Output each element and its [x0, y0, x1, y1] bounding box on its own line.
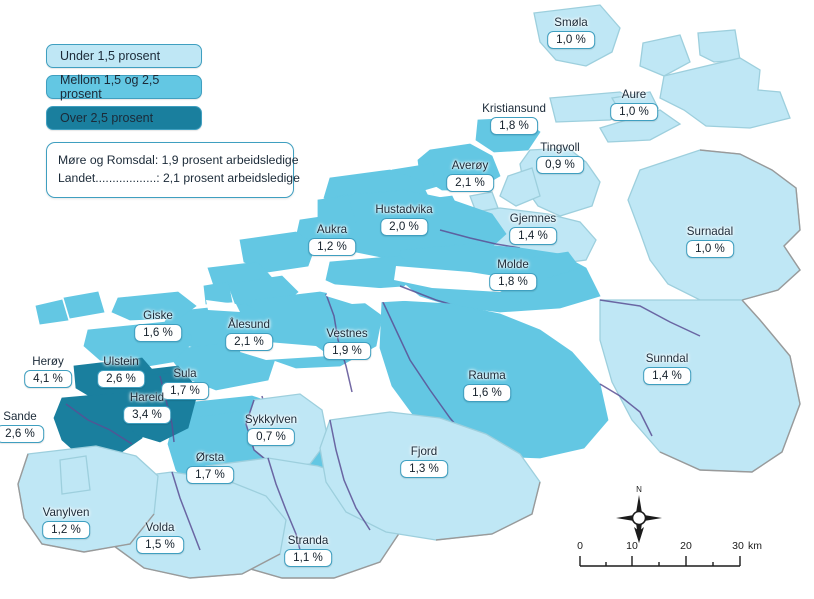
- municipality-value-badge: 1,8 %: [489, 273, 537, 291]
- scale-tick-30: 30: [732, 540, 744, 552]
- municipality-label-rauma: Rauma1,6 %: [463, 370, 511, 402]
- municipality-name: Ulstein: [97, 356, 145, 368]
- municipality-label-kristiansund: Kristiansund1,8 %: [482, 103, 546, 135]
- municipality-value-badge: 1,8 %: [490, 117, 538, 135]
- municipality-value-badge: 1,1 %: [284, 549, 332, 567]
- municipality-name: Fjord: [400, 446, 448, 458]
- municipality-label-aukra: Aukra1,2 %: [308, 224, 356, 256]
- municipality-name: Kristiansund: [482, 103, 546, 115]
- municipality-value-badge: 1,0 %: [686, 240, 734, 258]
- map-container: .lowf { fill: #bfe7f5; stroke: #9dcfdd; …: [0, 0, 814, 599]
- municipality-value-badge: 1,7 %: [186, 466, 234, 484]
- municipality-label-vestnes: Vestnes1,9 %: [323, 328, 371, 360]
- municipality-name: Ørsta: [186, 452, 234, 464]
- municipality-value-badge: 4,1 %: [24, 370, 72, 388]
- legend-class-high: Over 2,5 prosent: [46, 106, 202, 130]
- scale-bar-tick-labels: 0 10 20 30 km: [576, 540, 756, 554]
- municipality-name: Surnadal: [686, 226, 734, 238]
- legend-class-low: Under 1,5 prosent: [46, 44, 202, 68]
- municipality-name: Tingvoll: [536, 142, 584, 154]
- municipality-name: Sula: [161, 368, 209, 380]
- scale-tick-20: 20: [680, 540, 692, 552]
- legend-class-mid: Mellom 1,5 og 2,5 prosent: [46, 75, 202, 99]
- municipality-label-molde: Molde1,8 %: [489, 259, 537, 291]
- municipality-label-hustadvika: Hustadvika2,0 %: [375, 204, 432, 236]
- scale-bar: 0 10 20 30 km: [576, 540, 756, 577]
- scale-unit-label: km: [748, 540, 762, 552]
- municipality-value-badge: 2,0 %: [380, 218, 428, 236]
- municipality-label-gjemnes: Gjemnes1,4 %: [509, 213, 557, 245]
- municipality-value-badge: 1,9 %: [323, 342, 371, 360]
- municipality-name: Hareid: [123, 392, 171, 404]
- municipality-value-badge: 2,1 %: [225, 333, 273, 351]
- municipality-name: Giske: [134, 310, 182, 322]
- municipality-value-badge: 1,6 %: [134, 324, 182, 342]
- municipality-label-sykkylven: Sykkylven0,7 %: [245, 414, 297, 446]
- municipality-name: Averøy: [446, 160, 494, 172]
- municipality-name: Smøla: [547, 17, 595, 29]
- municipality-name: Vanylven: [42, 507, 90, 519]
- scale-bar-graphic: [576, 554, 756, 572]
- municipality-label--lesund: Ålesund2,1 %: [225, 319, 273, 351]
- municipality-label-hareid: Hareid3,4 %: [123, 392, 171, 424]
- legend: Under 1,5 prosent Mellom 1,5 og 2,5 pros…: [46, 44, 308, 198]
- municipality-name: Molde: [489, 259, 537, 271]
- legend-summary-country: Landet..................: 2,1 prosent ar…: [58, 170, 282, 188]
- municipality-label-vanylven: Vanylven1,2 %: [42, 507, 90, 539]
- municipality-value-badge: 3,4 %: [123, 406, 171, 424]
- municipality-name: Ålesund: [225, 319, 273, 331]
- municipality-value-badge: 1,5 %: [136, 536, 184, 554]
- scale-tick-0: 0: [577, 540, 583, 552]
- municipality-value-badge: 1,0 %: [610, 103, 658, 121]
- municipality-value-badge: 1,6 %: [463, 384, 511, 402]
- scale-tick-10: 10: [626, 540, 638, 552]
- municipality-label-ulstein: Ulstein2,6 %: [97, 356, 145, 388]
- municipality-value-badge: 1,2 %: [308, 238, 356, 256]
- municipality-name: Stranda: [284, 535, 332, 547]
- municipality-label-stranda: Stranda1,1 %: [284, 535, 332, 567]
- legend-summary-region: Møre og Romsdal: 1,9 prosent arbeidsledi…: [58, 152, 282, 170]
- municipality-name: Volda: [136, 522, 184, 534]
- municipality-value-badge: 0,7 %: [247, 428, 295, 446]
- municipality-label-volda: Volda1,5 %: [136, 522, 184, 554]
- municipality-value-badge: 0,9 %: [536, 156, 584, 174]
- legend-class-mid-label: Mellom 1,5 og 2,5 prosent: [60, 73, 201, 101]
- municipality-label-tingvoll: Tingvoll0,9 %: [536, 142, 584, 174]
- municipality-name: Sykkylven: [245, 414, 297, 426]
- municipality-value-badge: 1,0 %: [547, 31, 595, 49]
- municipality-value-badge: 2,6 %: [97, 370, 145, 388]
- municipality-label-giske: Giske1,6 %: [134, 310, 182, 342]
- municipality-label-sande: Sande2,6 %: [0, 411, 44, 443]
- municipality-name: Hustadvika: [375, 204, 432, 216]
- legend-class-high-label: Over 2,5 prosent: [60, 111, 153, 125]
- municipality-name: Aukra: [308, 224, 356, 236]
- municipality-name: Vestnes: [323, 328, 371, 340]
- compass-north-label: N: [636, 485, 642, 494]
- municipality-label-sunndal: Sunndal1,4 %: [643, 353, 691, 385]
- legend-summary-box: Møre og Romsdal: 1,9 prosent arbeidsledi…: [46, 142, 294, 198]
- municipality-value-badge: 1,4 %: [509, 227, 557, 245]
- legend-class-low-label: Under 1,5 prosent: [60, 49, 160, 63]
- municipality-label-surnadal: Surnadal1,0 %: [686, 226, 734, 258]
- municipality-value-badge: 2,1 %: [446, 174, 494, 192]
- region-sunndal: [600, 300, 800, 472]
- municipality-value-badge: 2,6 %: [0, 425, 44, 443]
- municipality-name: Rauma: [463, 370, 511, 382]
- municipality-name: Herøy: [24, 356, 72, 368]
- municipality-name: Gjemnes: [509, 213, 557, 225]
- municipality-name: Aure: [610, 89, 658, 101]
- municipality-label-her-y: Herøy4,1 %: [24, 356, 72, 388]
- municipality-label--rsta: Ørsta1,7 %: [186, 452, 234, 484]
- municipality-value-badge: 1,3 %: [400, 460, 448, 478]
- municipality-label-aure: Aure1,0 %: [610, 89, 658, 121]
- municipality-label-fjord: Fjord1,3 %: [400, 446, 448, 478]
- municipality-value-badge: 1,2 %: [42, 521, 90, 539]
- municipality-name: Sande: [0, 411, 44, 423]
- municipality-name: Sunndal: [643, 353, 691, 365]
- municipality-label-sm-la: Smøla1,0 %: [547, 17, 595, 49]
- municipality-value-badge: 1,4 %: [643, 367, 691, 385]
- municipality-label-aver-y: Averøy2,1 %: [446, 160, 494, 192]
